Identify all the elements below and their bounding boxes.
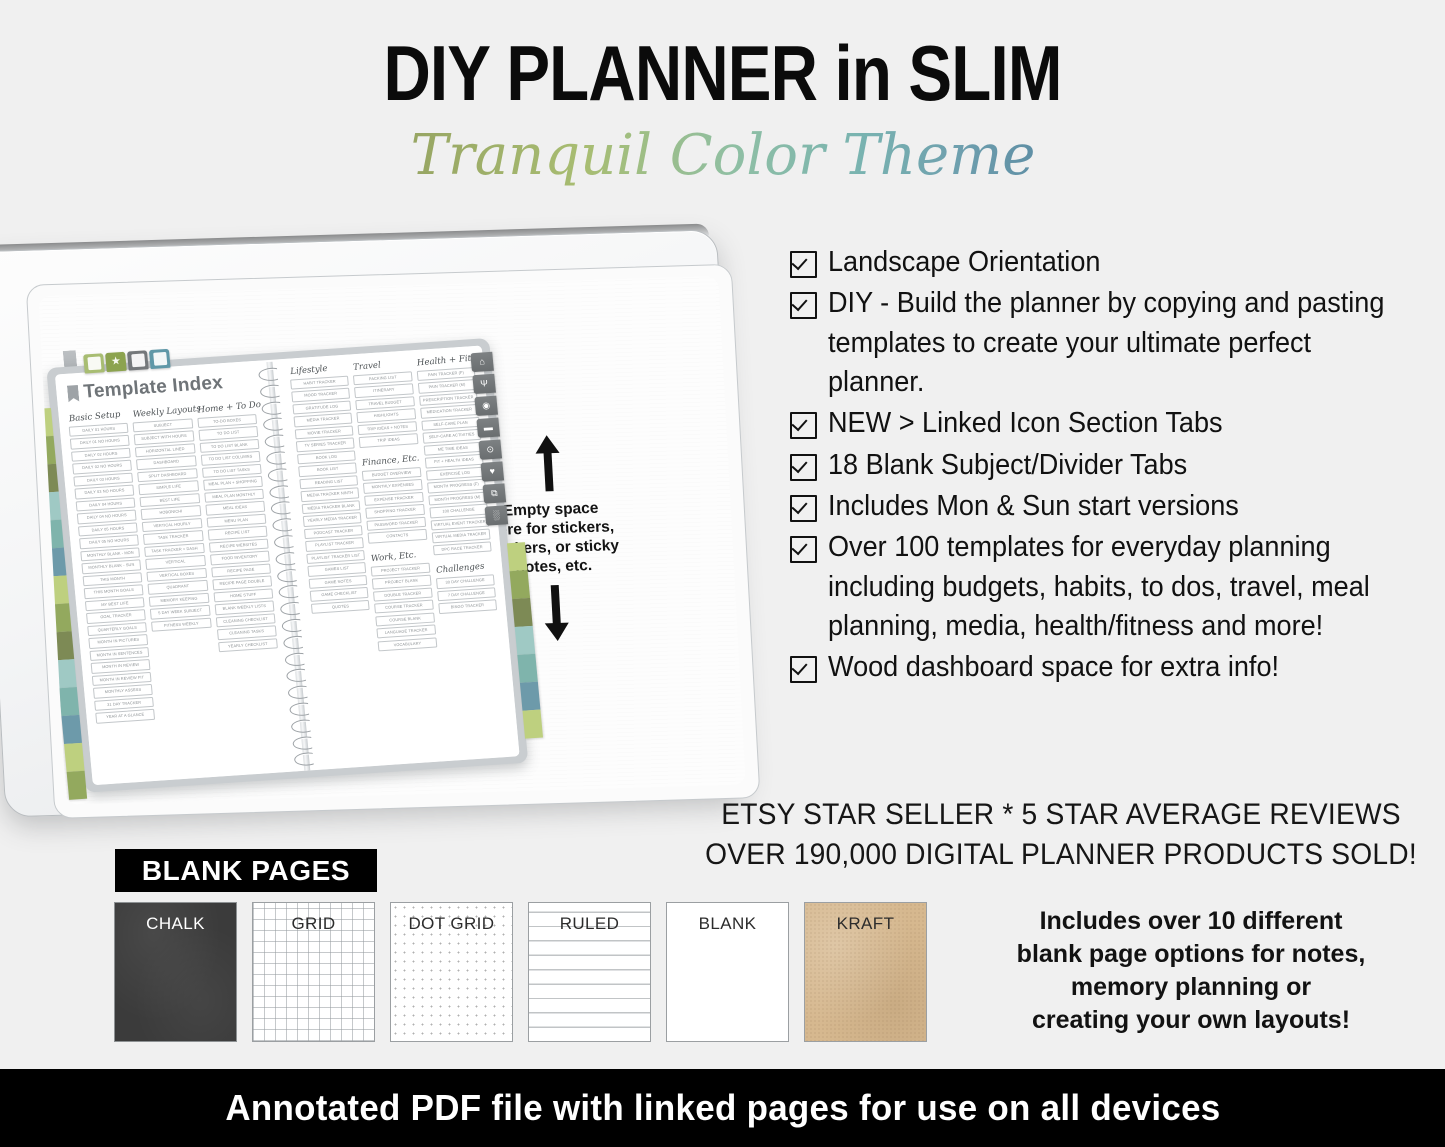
divider-tab[interactable] xyxy=(522,710,543,739)
divider-tab[interactable] xyxy=(520,682,541,711)
blank-page-swatch[interactable]: BLANK xyxy=(666,902,789,1042)
blank-page-swatch[interactable]: GRID xyxy=(252,902,375,1042)
checkbox-checked-icon[interactable] xyxy=(790,251,817,278)
checkbox-checked-icon[interactable] xyxy=(790,656,817,683)
divider-tab[interactable] xyxy=(56,659,77,688)
divider-tab[interactable] xyxy=(510,570,531,599)
template-link[interactable]: VOCABULARY xyxy=(378,637,437,651)
bookmark-icon xyxy=(67,385,80,403)
header: DIY PLANNER in SLIM Tranquil Color Theme xyxy=(0,0,1445,215)
template-link[interactable]: MONTHLY ASSESS xyxy=(93,684,153,698)
template-link[interactable]: 5 DAY WEEK SUBJECT xyxy=(150,605,210,619)
planner-cover: ⌂Ψ◉▬⊙♥⧉░ Template Index xyxy=(46,338,528,793)
divider-tab[interactable] xyxy=(67,771,88,800)
template-link[interactable]: FITNESS WEEKLY xyxy=(151,617,211,631)
template-column-heading: Health + Fitness xyxy=(416,353,474,368)
blank-page-swatch[interactable]: CHALK xyxy=(114,902,237,1042)
template-link[interactable]: CLEANING TASKS xyxy=(217,626,277,640)
divider-tab[interactable] xyxy=(507,542,528,571)
template-link[interactable]: 30 DAY CHALLENGE xyxy=(436,574,495,588)
template-link[interactable]: SHOPPING TRACKER xyxy=(366,504,425,518)
feature-label: Landscape Orientation xyxy=(828,243,1100,282)
feature-label: Includes Mon & Sun start versions xyxy=(828,487,1239,526)
tablet-mockup: Empty space here for stickers, trackers,… xyxy=(0,222,760,842)
checkbox-checked-icon[interactable] xyxy=(790,412,817,439)
tablet-screen: Empty space here for stickers, trackers,… xyxy=(38,276,745,804)
feature-label: Wood dashboard space for extra info! xyxy=(828,648,1279,687)
template-link[interactable]: 100 CHALLENGE xyxy=(429,504,488,518)
subtitle-text: Tranquil Color Theme xyxy=(413,123,1033,188)
tab-book[interactable] xyxy=(83,353,105,373)
blank-page-swatch[interactable]: KRAFT xyxy=(804,902,927,1042)
folder-icon[interactable]: ▬ xyxy=(476,418,500,438)
pin-icon[interactable]: ⊙ xyxy=(478,439,502,459)
template-link[interactable]: MONTH IN REVIEW xyxy=(91,659,151,673)
feature-item: Includes Mon & Sun start versions xyxy=(790,487,1430,526)
blank-pages-badge-label: BLANK PAGES xyxy=(142,855,350,887)
planner-spread: ★ ⌂Ψ◉▬⊙♥⧉░ xyxy=(46,338,528,797)
tablet-body: Empty space here for stickers, trackers,… xyxy=(0,229,747,817)
blank-page-swatch[interactable]: DOT GRID xyxy=(390,902,513,1042)
tab-star[interactable]: ★ xyxy=(105,352,127,372)
blank-pages-note: Includes over 10 different blank page op… xyxy=(945,905,1437,1037)
chart-icon[interactable]: ░ xyxy=(485,505,509,525)
subtitle-script: Tranquil Color Theme xyxy=(0,112,1445,202)
etsy-line-1: ETSY STAR SELLER * 5 STAR AVERAGE REVIEW… xyxy=(703,795,1419,835)
utensils-icon[interactable]: Ψ xyxy=(472,374,496,394)
index-title: Template Index xyxy=(83,372,224,403)
template-link[interactable]: PROJECT BLANK xyxy=(372,575,431,589)
template-column-heading: Weekly Layouts xyxy=(133,405,192,420)
footer-text: Annotated PDF file with linked pages for… xyxy=(225,1087,1220,1129)
swatch-label: GRID xyxy=(253,914,374,934)
dumbbell-icon[interactable]: ⧉ xyxy=(482,483,506,503)
template-link[interactable]: VIRTUAL MEDIA TRACKER xyxy=(431,529,490,543)
template-link[interactable]: LANGUAGE TRACKER xyxy=(377,625,436,639)
feature-item: Over 100 templates for everyday planning… xyxy=(790,528,1430,646)
feature-item: 18 Blank Subject/Divider Tabs xyxy=(790,446,1430,485)
template-column-heading: Travel xyxy=(353,358,411,373)
template-columns-left: Basic SetupDAILY 01 HOURSDAILY 01 NO HOU… xyxy=(68,401,284,725)
template-link[interactable]: GOAL TRACKER xyxy=(86,609,146,623)
checkbox-checked-icon[interactable] xyxy=(790,495,817,522)
template-link[interactable]: GAME CHECKLIST xyxy=(310,587,369,601)
template-link[interactable]: MONTH IN PICTURES xyxy=(88,634,148,648)
page-title: DIY PLANNER in SLIM xyxy=(116,28,1330,119)
checkbox-checked-icon[interactable] xyxy=(790,454,817,481)
template-link[interactable]: PLAYLIST TRACKER xyxy=(305,537,364,551)
template-column-heading: Work, Etc. xyxy=(371,549,429,564)
subtitle-svg: Tranquil Color Theme xyxy=(413,112,1033,198)
divider-tab[interactable] xyxy=(515,626,536,655)
etsy-line-2: OVER 190,000 DIGITAL PLANNER PRODUCTS SO… xyxy=(703,835,1419,875)
template-link[interactable]: MONTHLY EXPENSES xyxy=(363,479,422,493)
feature-label: DIY - Build the planner by copying and p… xyxy=(828,284,1400,402)
swatch-label: KRAFT xyxy=(805,914,926,934)
divider-tab[interactable] xyxy=(64,743,85,772)
calendar-icon xyxy=(131,353,145,367)
tab-calendar[interactable] xyxy=(127,350,149,370)
checkbox-checked-icon[interactable] xyxy=(790,536,817,563)
template-column-heading: Lifestyle xyxy=(290,362,348,377)
list-icon xyxy=(153,352,167,366)
template-column-heading: Finance, Etc. xyxy=(362,453,420,468)
feature-item: Landscape Orientation xyxy=(790,243,1430,282)
index-title-row: Template Index xyxy=(67,370,254,405)
tablet-device: Empty space here for stickers, trackers,… xyxy=(0,211,766,834)
template-link[interactable]: GAMES LIST xyxy=(307,562,366,576)
product-listing-image: DIY PLANNER in SLIM Tranquil Color Theme xyxy=(0,0,1445,1147)
feature-item: Wood dashboard space for extra info! xyxy=(790,648,1430,687)
feature-item: DIY - Build the planner by copying and p… xyxy=(790,284,1430,402)
template-column-heading: Home + To Do xyxy=(197,400,256,415)
checkbox-checked-icon[interactable] xyxy=(790,292,817,319)
feature-list: Landscape OrientationDIY - Build the pla… xyxy=(790,243,1430,690)
footer-bar: Annotated PDF file with linked pages for… xyxy=(0,1069,1445,1147)
template-link[interactable]: CONTACTS xyxy=(368,529,427,543)
template-link[interactable]: DPC RACE TRACKER xyxy=(433,541,492,555)
star-icon: ★ xyxy=(109,355,123,369)
planner-pages: Template Index Basic SetupDAILY 01 HOURS… xyxy=(55,345,520,785)
feature-label: Over 100 templates for everyday planning… xyxy=(828,528,1400,646)
swatch-label: DOT GRID xyxy=(391,914,512,934)
feature-label: 18 Blank Subject/Divider Tabs xyxy=(828,446,1187,485)
divider-tab[interactable] xyxy=(512,598,533,627)
blank-pages-badge: BLANK PAGES xyxy=(115,849,377,892)
home-icon[interactable]: ⌂ xyxy=(470,352,494,372)
swatch-label: CHALK xyxy=(115,914,236,934)
divider-tab[interactable] xyxy=(59,687,80,716)
tab-list[interactable] xyxy=(149,349,171,369)
book-icon xyxy=(87,356,101,370)
template-link[interactable]: QUOTES xyxy=(311,600,370,614)
template-link[interactable]: YEAR AT A GLANCE xyxy=(95,709,155,723)
template-columns-right: LifestyleHABIT TRACKERMOOD TRACKERGRATIT… xyxy=(289,354,500,658)
divider-tab[interactable] xyxy=(61,715,82,744)
divider-tab[interactable] xyxy=(517,654,538,683)
swatch-label: BLANK xyxy=(667,914,788,934)
blank-page-swatches: CHALKGRIDDOT GRIDRULEDBLANKKRAFT xyxy=(114,902,927,1042)
template-column-heading: Basic Setup xyxy=(68,409,127,424)
feature-label: NEW > Linked Icon Section Tabs xyxy=(828,404,1223,443)
blank-page-swatch[interactable]: RULED xyxy=(528,902,651,1042)
swatch-label: RULED xyxy=(529,914,650,934)
template-link[interactable]: COURSE TRACKER xyxy=(374,600,433,614)
arrow-up-icon xyxy=(531,433,564,494)
heart-icon[interactable]: ♥ xyxy=(480,461,504,481)
feature-item: NEW > Linked Icon Section Tabs xyxy=(790,404,1430,443)
template-column-heading: Challenges xyxy=(435,561,493,576)
arrow-down-icon xyxy=(540,582,573,643)
clock-icon[interactable]: ◉ xyxy=(474,396,498,416)
template-link[interactable]: BINGO TRACKER xyxy=(438,599,497,613)
etsy-credentials: ETSY STAR SELLER * 5 STAR AVERAGE REVIEW… xyxy=(703,795,1419,875)
template-link[interactable]: TRIP IDEAS xyxy=(359,434,418,448)
template-link[interactable]: BLANK WEEKLY LISTS xyxy=(214,601,274,615)
template-link[interactable]: YEARLY CHECKLIST xyxy=(218,638,278,652)
